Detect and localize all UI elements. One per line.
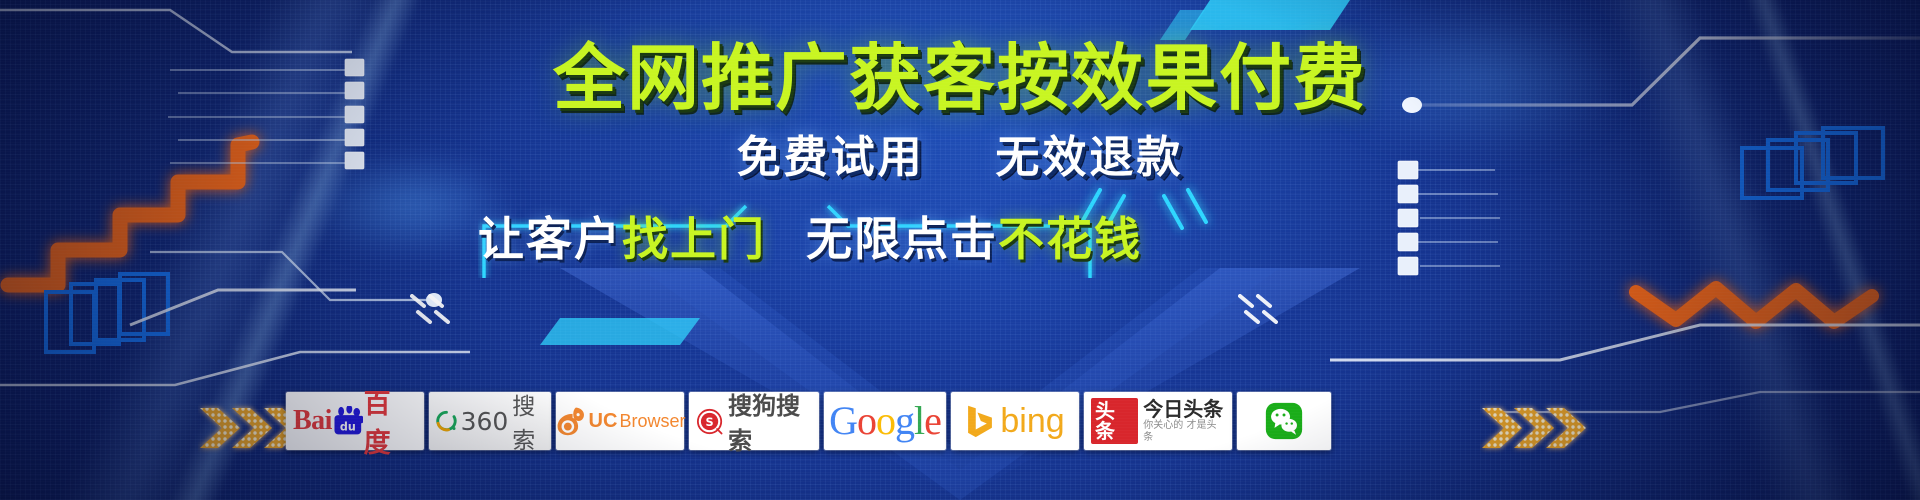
cyan-panel-bottom-left [540,318,700,345]
uc-label: UC [589,410,618,433]
partner-logo-strip: Bai du 百度 360 [286,392,1331,450]
logo-google[interactable]: Google [824,392,946,450]
page-title: 全网推广获客按效果付费 [0,42,1920,114]
bottom-left-line [0,290,470,385]
uc-squirrel-icon [555,406,587,436]
blue-rectangles-icon [46,274,168,352]
baidu-latin: Bai [293,405,332,437]
cyan-panel-top-right [1160,0,1350,40]
dash-ticks-right [1240,296,1276,322]
google-letter-o2: o [876,398,895,443]
dash-ticks-left [412,296,448,322]
subtitle-right: 无效退款 [995,132,1183,183]
baidu-chinese: 百度 [364,382,417,460]
subtitle-left: 免费试用 [737,132,925,183]
pointer-line-left [150,252,442,307]
svg-text:S: S [705,416,713,429]
google-letter-o1: o [857,398,876,443]
toutiao-tagline: 你关心的 才是头条 [1143,420,1225,444]
sogou-chinese: 搜狗搜索 [728,386,812,456]
google-letter-g2: g [895,398,914,443]
slogan-part1-white: 让客户 [478,212,622,266]
uc-browser-label: Browser [619,411,685,432]
logo-uc-browser[interactable]: UC Browser [556,392,684,450]
google-wordmark: Google [829,401,941,441]
360-chinese: 搜索 [512,387,544,455]
logo-baidu[interactable]: Bai du 百度 [286,392,424,450]
orange-zigzag-icon [1636,288,1872,322]
bing-b-icon [965,404,995,438]
bottom-right-line [1330,325,1920,412]
toutiao-chinese: 今日头条 [1143,399,1223,420]
360-ring-icon [436,406,457,436]
bing-label: bing [1000,404,1064,438]
promo-banner: 全网推广获客按效果付费 免费试用 无效退款 让客户找上门无限点击不花钱 [0,0,1920,500]
subtitle: 免费试用 无效退款 [0,135,1920,181]
logo-bing[interactable]: bing [951,392,1079,450]
360-number: 360 [461,407,509,436]
center-v-wedge [560,268,1360,500]
slogan-part2-white: 无限点击 [806,212,998,266]
svg-text:du: du [340,421,356,434]
google-letter-l: l [914,398,924,443]
slogan-part2-green: 不花钱 [998,212,1142,266]
toutiao-badge-icon: 头条 [1091,398,1138,444]
wechat-bubbles-icon [1265,402,1303,440]
arrows-right-icon [1480,400,1590,456]
google-letter-g1: G [829,398,857,443]
logo-sogou-search[interactable]: S 搜狗搜索 [689,392,819,450]
logo-360-search[interactable]: 360 搜索 [429,392,551,450]
google-letter-e: e [924,398,941,443]
slogan-text: 让客户找上门无限点击不花钱 [478,214,1096,264]
baidu-paw-icon: du [333,406,363,436]
slogan-part1-green: 找上门 [622,212,766,266]
sogou-s-icon: S [696,406,723,437]
logo-toutiao[interactable]: 头条 今日头条 你关心的 才是头条 [1084,392,1232,450]
framed-slogan: 让客户找上门无限点击不花钱 [478,200,1096,278]
logo-wechat[interactable] [1237,392,1331,450]
